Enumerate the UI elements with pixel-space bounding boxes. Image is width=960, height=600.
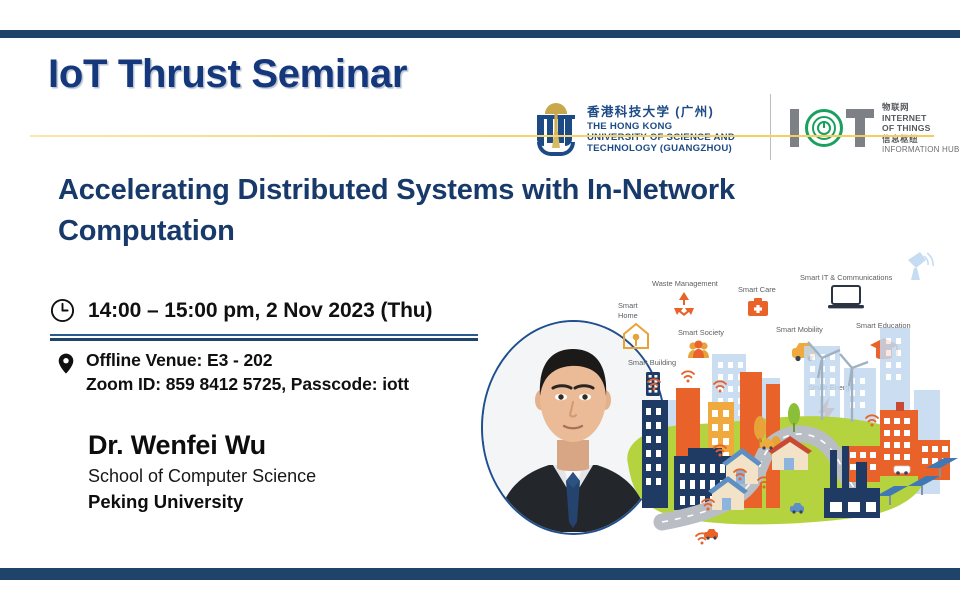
smart-care-icon [748, 298, 768, 316]
iot-hub-logo: 物联网 INTERNET OF THINGS 信息枢纽 INFORMATION … [788, 96, 954, 160]
speaker-block: Dr. Wenfei Wu School of Computer Science… [88, 430, 316, 513]
hkust-logo: 香港科技大学 (广州) THE HONG KONG UNIVERSITY OF … [534, 94, 764, 166]
venue-block: Offline Venue: E3 - 202 Zoom ID: 859 841… [58, 350, 409, 395]
gold-divider-rule [30, 135, 934, 137]
speaker-department: School of Computer Science [88, 466, 316, 487]
label-smart-building: Smart Building [628, 358, 676, 367]
top-navy-rule [0, 30, 960, 38]
hkust-english-line-1: THE HONG KONG [587, 121, 735, 132]
seminar-time: 14:00 – 15:00 pm, 2 Nov 2023 (Thu) [88, 299, 432, 323]
logo-divider [770, 94, 771, 160]
iot-english-of-things: OF THINGS [882, 123, 960, 133]
clock-icon [50, 298, 75, 323]
poster-header: IoT Thrust Seminar 香港科技大学 (广州) THE HONG … [0, 38, 960, 134]
hkust-logo-text: 香港科技大学 (广州) THE HONG KONG UNIVERSITY OF … [587, 105, 735, 155]
smart-city-illustration: .lbl { font-family: "Liberation Sans", s… [608, 250, 960, 560]
speaker-name: Dr. Wenfei Wu [88, 430, 316, 461]
smart-home-icon [624, 324, 648, 348]
satellite-icon [908, 252, 933, 280]
time-row: 14:00 – 15:00 pm, 2 Nov 2023 (Thu) [50, 298, 432, 323]
label-smart-care: Smart Care [738, 285, 776, 294]
venue-offline: Offline Venue: E3 - 202 [86, 350, 409, 371]
smart-it-icon [828, 286, 864, 308]
label-smart-society: Smart Society [678, 328, 724, 337]
hkust-english-line-2: UNIVERSITY OF SCIENCE AND [587, 132, 735, 143]
label-waste-management: Waste Management [652, 279, 718, 288]
venue-zoom: Zoom ID: 859 8412 5725, Passcode: iott [86, 374, 409, 395]
bottom-navy-rule [0, 568, 960, 580]
recycle-icon [674, 292, 694, 316]
location-pin-icon [58, 353, 74, 374]
iot-english-information-hub: INFORMATION HUB [882, 145, 960, 155]
label-smart-it: Smart IT & Communications [800, 273, 893, 282]
iot-english-internet: INTERNET [882, 113, 960, 123]
label-smart-mobility: Smart Mobility [776, 325, 823, 334]
talk-title: Accelerating Distributed Systems with In… [58, 170, 878, 252]
time-underline-rule [50, 334, 478, 341]
smart-society-icon [688, 341, 709, 359]
label-smart-home-1: Smart [618, 301, 638, 310]
iot-wordmark-icon [788, 107, 876, 149]
hkust-emblem-icon [534, 102, 578, 158]
page-title: IoT Thrust Seminar [48, 52, 407, 97]
label-smart-home-2: Home [618, 311, 638, 320]
seminar-poster: IoT Thrust Seminar 香港科技大学 (广州) THE HONG … [0, 0, 960, 600]
iot-logo-text: 物联网 INTERNET OF THINGS 信息枢纽 INFORMATION … [882, 102, 960, 155]
hkust-english-line-3: TECHNOLOGY (GUANGZHOU) [587, 143, 735, 154]
hkust-chinese-name: 香港科技大学 (广州) [587, 105, 735, 121]
speaker-university: Peking University [88, 491, 316, 513]
iot-chinese-internet-of-things: 物联网 [882, 102, 960, 113]
